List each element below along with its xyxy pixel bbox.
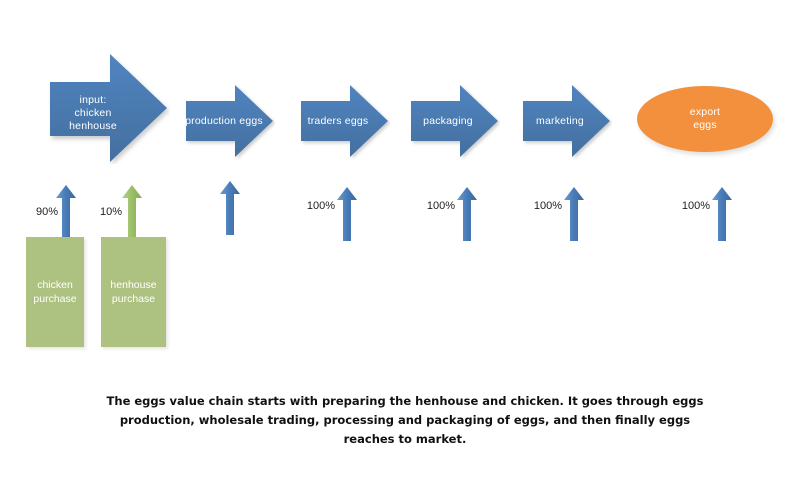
diagram-caption: The eggs value chain starts with prepari… [95, 392, 715, 449]
flow-percent-traders: 100% [303, 200, 335, 212]
diagram-canvas: input: chicken henhouse production eggs [0, 0, 790, 501]
flow-arrow-traders[interactable] [336, 186, 358, 242]
flow-arrow-henhouse[interactable] [121, 184, 143, 240]
flow-arrow-export[interactable] [711, 186, 733, 242]
input-box-henhouse-purchase[interactable]: henhouse purchase [101, 237, 166, 347]
stage-arrow-production[interactable] [185, 84, 275, 160]
flow-arrow-production[interactable] [219, 180, 241, 236]
flow-percent-marketing: 100% [530, 200, 562, 212]
input-label-chicken-purchase: chicken purchase [26, 278, 84, 306]
input-box-chicken-purchase[interactable]: chicken purchase [26, 237, 84, 347]
flow-percent-henhouse: 10% [100, 206, 122, 218]
flow-percent-export: 100% [678, 200, 710, 212]
stage-ellipse-export[interactable]: export eggs [637, 86, 773, 152]
stage-arrow-traders[interactable] [300, 84, 390, 160]
flow-arrow-packaging[interactable] [456, 186, 478, 242]
stage-arrow-packaging[interactable] [410, 84, 500, 160]
stage-arrow-marketing[interactable] [522, 84, 612, 160]
flow-percent-packaging: 100% [423, 200, 455, 212]
input-label-henhouse-purchase: henhouse purchase [101, 278, 166, 306]
flow-arrow-chicken[interactable] [55, 184, 77, 240]
flow-percent-chicken: 90% [36, 206, 58, 218]
stage-label-export: export eggs [637, 106, 773, 132]
stage-arrow-input[interactable] [48, 52, 170, 164]
flow-arrow-marketing[interactable] [563, 186, 585, 242]
